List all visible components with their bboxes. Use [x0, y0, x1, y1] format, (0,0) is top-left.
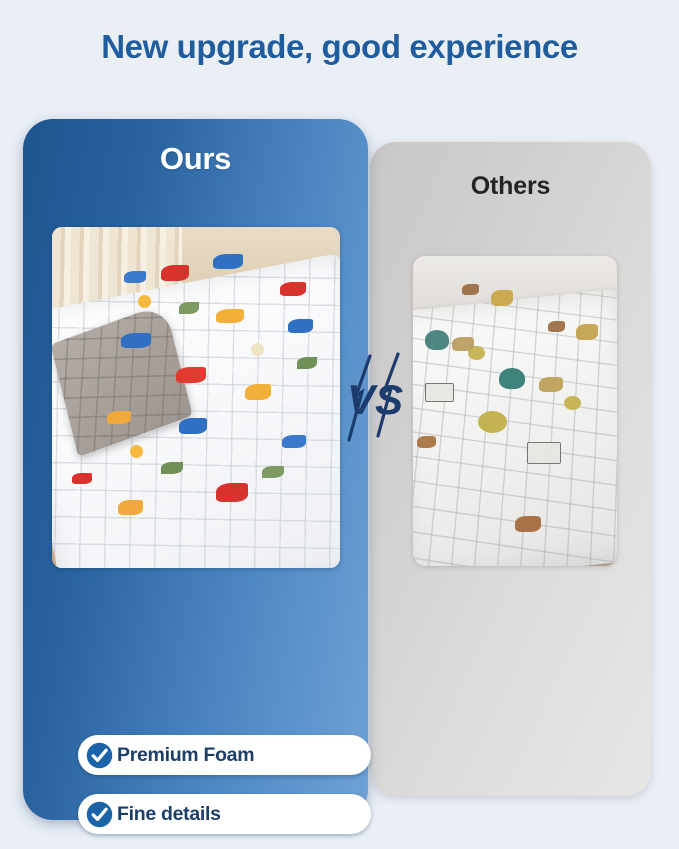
- vs-label: VS: [347, 376, 403, 423]
- motif-fox: [515, 516, 541, 532]
- others-photo-scene: [413, 256, 617, 566]
- ours-photo-scene: [52, 227, 340, 568]
- check-circle-icon: [86, 742, 113, 769]
- motif-dog: [576, 324, 598, 340]
- motif-dino-blue: [282, 435, 306, 448]
- motif-dino-red: [161, 265, 189, 281]
- ours-feature-label: Fine details: [117, 803, 221, 826]
- ours-feature-pill: Fine details: [78, 794, 371, 834]
- motif-sun: [130, 445, 143, 458]
- motif-dino-blue: [179, 418, 207, 434]
- motif-leaf: [179, 302, 199, 314]
- motif-tree: [425, 330, 449, 350]
- motif-tree: [499, 368, 525, 389]
- page-title: New upgrade, good experience: [0, 28, 679, 66]
- motif-dino-red: [216, 483, 248, 502]
- vs-badge: VS: [336, 352, 414, 444]
- motif-dog: [548, 321, 565, 332]
- others-heading: Others: [370, 172, 651, 201]
- motif-dino-yellow: [216, 309, 244, 323]
- motif-dino-blue: [124, 271, 146, 283]
- motif-balloon: [564, 396, 581, 410]
- motif-dino-red: [176, 367, 206, 383]
- motif-leaf: [297, 357, 317, 369]
- motif-dino-blue: [121, 333, 151, 348]
- motif-dog: [462, 284, 479, 295]
- motif-dino-yellow: [118, 500, 143, 515]
- ours-feature-pill: Premium Foam: [78, 735, 371, 775]
- motif-dino-yellow: [245, 384, 271, 400]
- motif-squirrel: [539, 377, 563, 392]
- motif-dino-yellow: [107, 411, 131, 424]
- ours-panel: Ours: [23, 119, 368, 820]
- motif-dino-blue: [288, 319, 313, 333]
- motif-book: [527, 442, 561, 464]
- ours-product-photo: [52, 227, 340, 568]
- motif-squirrel: [452, 337, 474, 351]
- ours-feature-label: Premium Foam: [117, 744, 254, 767]
- ours-heading: Ours: [23, 141, 368, 177]
- motif-dino-red: [280, 282, 306, 296]
- motif-leaf: [262, 466, 284, 478]
- others-product-photo: [413, 256, 617, 566]
- motif-book: [425, 383, 454, 402]
- others-panel: Others: [370, 142, 651, 796]
- infographic-canvas: New upgrade, good experience Others: [0, 0, 679, 849]
- motif-dino-blue: [213, 254, 243, 269]
- motif-sun: [251, 343, 264, 356]
- check-circle-icon: [86, 801, 113, 828]
- motif-dino-red: [72, 473, 92, 484]
- motif-dog: [491, 290, 513, 306]
- motif-fox: [417, 436, 436, 448]
